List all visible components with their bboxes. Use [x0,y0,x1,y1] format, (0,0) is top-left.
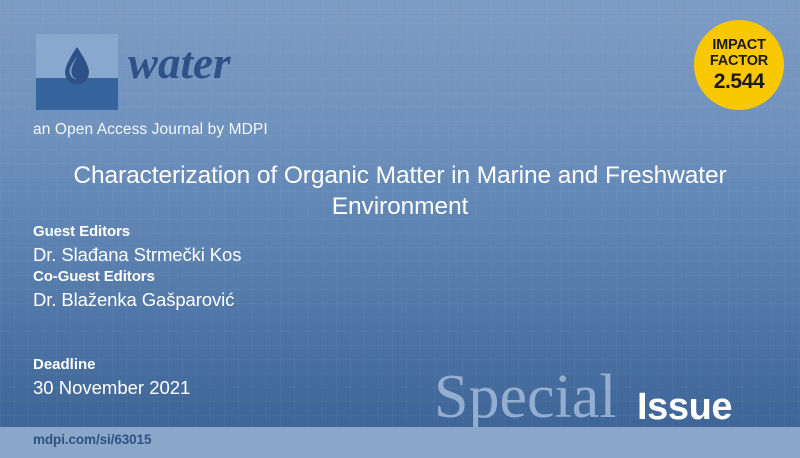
issue-word: Issue [637,388,732,426]
guest-editors-label: Guest Editors [33,222,241,242]
impact-factor-line2: FACTOR [710,53,768,69]
water-drop-icon [62,46,92,86]
journal-logo [36,34,118,110]
deadline-block: Deadline 30 November 2021 [33,355,190,400]
special-issue-flyer: water an Open Access Journal by MDPI IMP… [0,0,800,458]
deadline-value: 30 November 2021 [33,375,190,400]
guest-editor-name: Dr. Slađana Strmečki Kos [33,242,241,267]
journal-wordmark: water [128,41,231,86]
co-guest-editors-label: Co-Guest Editors [33,267,241,287]
editors-block: Guest Editors Dr. Slađana Strmečki Kos C… [33,222,241,312]
impact-factor-value: 2.544 [714,70,765,93]
impact-factor-badge: IMPACT FACTOR 2.544 [694,20,784,110]
impact-factor-line1: IMPACT [712,37,765,53]
page-title: Characterization of Organic Matter in Ma… [60,160,740,222]
journal-tagline: an Open Access Journal by MDPI [33,121,268,139]
footer-url[interactable]: mdpi.com/si/63015 [33,432,151,447]
co-guest-editor-name: Dr. Blaženka Gašparović [33,287,241,312]
special-word: Special [434,366,617,428]
deadline-label: Deadline [33,355,190,375]
